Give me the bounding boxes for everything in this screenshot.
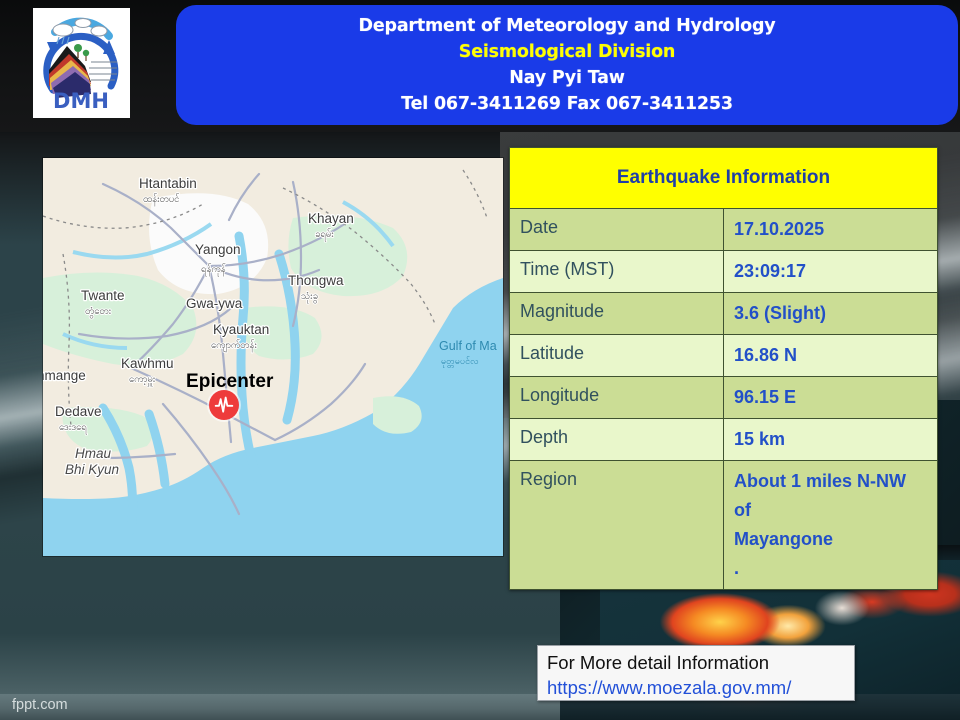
header-line-division: Seismological Division	[459, 39, 675, 65]
header-line-department: Department of Meteorology and Hydrology	[359, 13, 776, 39]
map-label-kyauktan-my: ကျောက်တန်း	[211, 340, 257, 352]
map-label-dedave: Dedave	[55, 404, 102, 419]
more-info-link[interactable]: https://www.moezala.gov.mm/	[547, 675, 845, 700]
table-row: Longitude 96.15 E	[510, 377, 938, 419]
map-label-gwa-ywa: Gwa-ywa	[186, 296, 243, 311]
map-label-htantabin: Htantabin	[139, 176, 197, 191]
row-label-depth: Depth	[510, 419, 724, 461]
dmh-logo: DMH	[33, 8, 130, 118]
map-label-kyauktan: Kyauktan	[213, 322, 269, 337]
map-label-dedave-my: ဒေးဒရေ	[59, 422, 87, 434]
row-label-magnitude: Magnitude	[510, 293, 724, 335]
map-label-kawhmu-my: ကော့မှူး	[129, 374, 156, 386]
epicenter-map[interactable]: Htantabin ထန်းတပင် Khayan ခရမ်း Thongwa …	[43, 158, 503, 556]
row-label-longitude: Longitude	[510, 377, 724, 419]
header-line-contact: Tel 067-3411269 Fax 067-3411253	[401, 91, 733, 117]
svg-text:DMH: DMH	[53, 89, 109, 113]
table-title: Earthquake Information	[510, 148, 938, 209]
row-label-region: Region	[510, 461, 724, 590]
map-label-hmau: Hmau	[75, 446, 112, 461]
row-label-latitude: Latitude	[510, 335, 724, 377]
row-value-latitude: 16.86 N	[724, 335, 938, 377]
map-label-khayan: Khayan	[308, 211, 354, 226]
map-label-twante-my: တွံတေး	[85, 306, 112, 318]
table-row: Magnitude 3.6 (Slight)	[510, 293, 938, 335]
header-line-city: Nay Pyi Taw	[509, 65, 625, 91]
header-banner: Department of Meteorology and Hydrology …	[176, 5, 958, 125]
map-label-kawhmu: Kawhmu	[121, 356, 174, 371]
slide-canvas: DMH Department of Meteorology and Hydrol…	[0, 0, 960, 720]
epicenter-label: Epicenter	[186, 371, 274, 393]
more-info-text: For More detail Information	[547, 650, 845, 675]
map-label-nmange: nmange	[43, 368, 86, 383]
map-label-khayan-my: ခရမ်း	[315, 229, 334, 241]
table-row: Time (MST) 23:09:17	[510, 251, 938, 293]
dmh-logo-icon: DMH	[33, 8, 130, 118]
map-label-htantabin-my: ထန်းတပင်	[143, 194, 180, 206]
region-line-2: Mayangone	[734, 525, 927, 554]
row-label-time: Time (MST)	[510, 251, 724, 293]
table-header-row: Earthquake Information	[510, 148, 938, 209]
map-label-twante: Twante	[81, 288, 125, 303]
row-value-longitude: 96.15 E	[724, 377, 938, 419]
row-value-region: About 1 miles N-NW of Mayangone .	[724, 461, 938, 590]
map-label-thongwa: Thongwa	[288, 273, 344, 288]
watermark: fppt.com	[12, 697, 68, 713]
map-label-gulf: Gulf of Ma	[439, 339, 497, 353]
table-row: Depth 15 km	[510, 419, 938, 461]
earthquake-info-table: Earthquake Information Date 17.10.2025 T…	[509, 147, 938, 590]
map-graphic: Htantabin ထန်းတပင် Khayan ခရမ်း Thongwa …	[43, 158, 503, 556]
epicenter-marker[interactable]	[209, 390, 239, 420]
map-label-yangon-my: ရန်ကုန်	[201, 264, 226, 276]
more-info-box: For More detail Information https://www.…	[537, 645, 855, 701]
table-row: Region About 1 miles N-NW of Mayangone .	[510, 461, 938, 590]
region-line-1: About 1 miles N-NW of	[734, 467, 927, 525]
row-value-magnitude: 3.6 (Slight)	[724, 293, 938, 335]
table-row: Date 17.10.2025	[510, 209, 938, 251]
region-line-3: .	[734, 554, 927, 583]
seismograph-wave-icon	[214, 395, 234, 415]
row-value-date: 17.10.2025	[724, 209, 938, 251]
map-label-bhi-kyun: Bhi Kyun	[65, 462, 119, 477]
map-label-yangon: Yangon	[195, 242, 241, 257]
map-label-thongwa-my: သုံးခွ	[301, 291, 318, 303]
row-value-time: 23:09:17	[724, 251, 938, 293]
row-value-depth: 15 km	[724, 419, 938, 461]
row-label-date: Date	[510, 209, 724, 251]
table-row: Latitude 16.86 N	[510, 335, 938, 377]
